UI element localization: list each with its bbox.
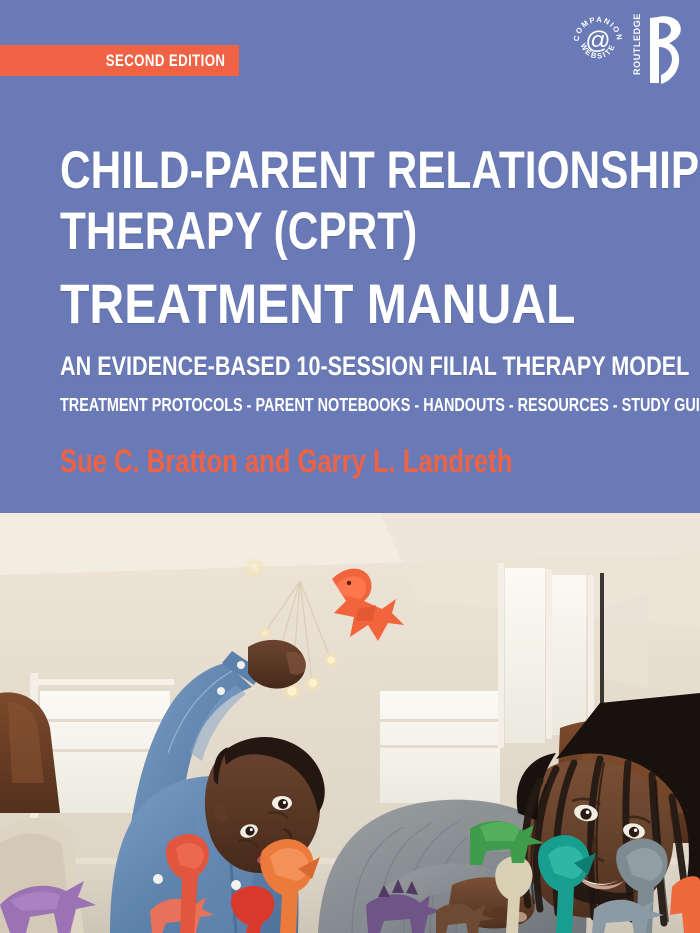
authors: Sue C. Bratton and Garry L. Landreth [60, 442, 540, 480]
cover-photograph [0, 513, 700, 933]
contents-line: TREATMENT PROTOCOLS - PARENT NOTEBOOKS -… [60, 394, 540, 416]
edition-banner: SECOND EDITION [0, 45, 239, 76]
cover-top-panel: SECOND EDITION COMPANION WEBSITE @ [0, 0, 700, 513]
edition-label: SECOND EDITION [105, 51, 225, 71]
routledge-logo: ROUTLEDGE [632, 14, 688, 86]
title-line-1: CHILD-PARENT RELATIONSHIP [60, 140, 540, 201]
routledge-r-icon [644, 14, 684, 86]
publisher-marks: COMPANION WEBSITE @ ROUTLEDGE [572, 14, 688, 86]
title-line-3: TREATMENT MANUAL [60, 272, 576, 336]
routledge-wordmark: ROUTLEDGE [632, 17, 642, 75]
title-block: CHILD-PARENT RELATIONSHIP THERAPY (CPRT)… [60, 140, 660, 480]
subtitle: AN EVIDENCE-BASED 10-SESSION FILIAL THER… [60, 350, 540, 382]
book-cover: SECOND EDITION COMPANION WEBSITE @ [0, 0, 700, 933]
at-symbol-glyph: @ [585, 27, 610, 55]
title-line-2: THERAPY (CPRT) [60, 201, 540, 262]
companion-website-icon: COMPANION WEBSITE @ [572, 14, 624, 66]
